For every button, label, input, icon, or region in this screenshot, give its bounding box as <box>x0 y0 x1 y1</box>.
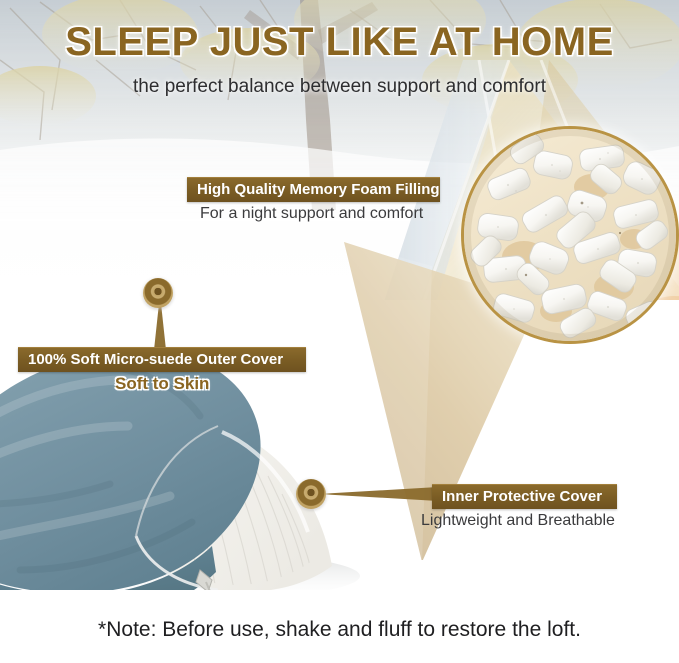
callout-banner-outer-cover: 100% Soft Micro-suede Outer Cover <box>18 347 306 372</box>
shredded-foam-icon <box>464 129 676 341</box>
memory-foam-closeup-inset <box>461 126 679 344</box>
callout-caption-inner-cover: Lightweight and Breathable <box>421 512 615 530</box>
callout-banner-memory-foam-label: High Quality Memory Foam Filling <box>197 181 440 198</box>
callout-banner-inner-cover-label: Inner Protective Cover <box>442 488 602 505</box>
callout-caption-memory-foam: For a night support and comfort <box>200 205 423 223</box>
marker-dot-outer-cover <box>143 278 173 308</box>
product-infographic: High Quality Memory Foam Filling For a n… <box>0 0 679 663</box>
page-subtitle: the perfect balance between support and … <box>0 76 679 98</box>
callout-banner-inner-cover: Inner Protective Cover <box>432 484 617 509</box>
callout-caption-outer-cover: Soft to Skin <box>115 374 209 394</box>
page-title: SLEEP JUST LIKE AT HOME <box>0 20 679 65</box>
callout-banner-outer-cover-label: 100% Soft Micro-suede Outer Cover <box>28 351 283 368</box>
callout-banner-memory-foam: High Quality Memory Foam Filling <box>187 177 440 202</box>
marker-dot-inner-cover <box>296 479 326 509</box>
leader-line-inner-cover <box>318 484 440 506</box>
footer-note: *Note: Before use, shake and fluff to re… <box>0 618 679 642</box>
